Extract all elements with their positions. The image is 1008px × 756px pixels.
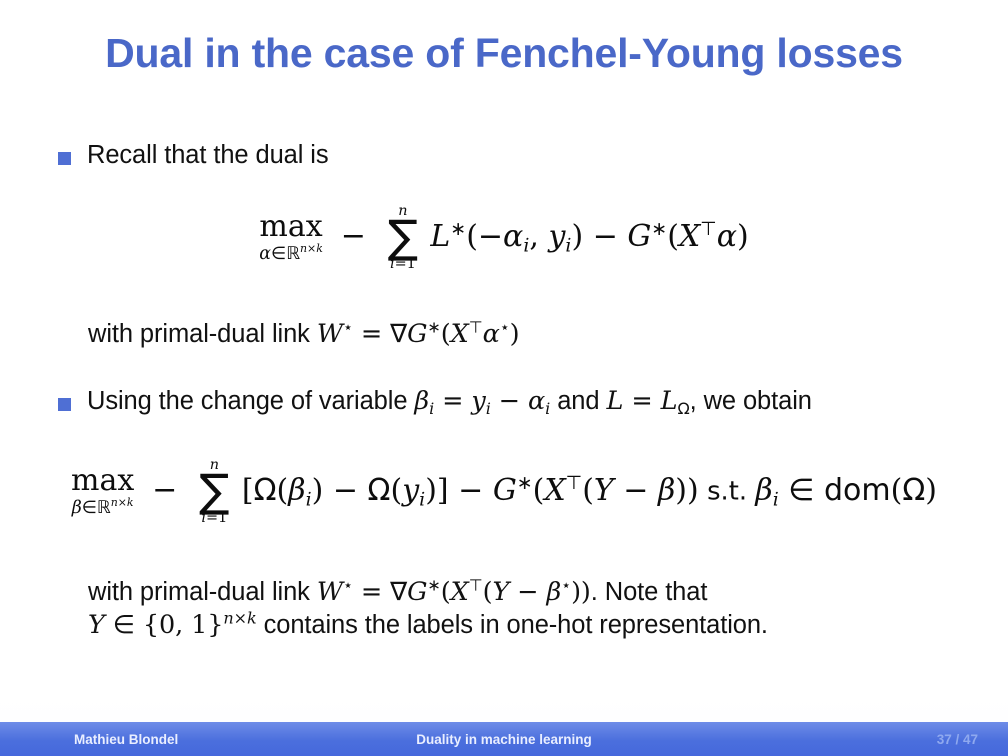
equation-2-max-operator: max β∈ℝn×k (71, 466, 134, 517)
bullet-2-prefix: Using the change of variable (87, 387, 407, 415)
bullet-2-middle: and (557, 387, 599, 415)
link-1-prefix: with primal-dual link (88, 320, 310, 348)
equation-1-max-limit: α∈ℝn×k (259, 245, 323, 263)
sigma-icon: ∑ (388, 216, 418, 259)
primal-dual-link-2: with primal-dual link W⋆ = ∇G∗(X⊤(Y − β⋆… (88, 576, 978, 642)
equation-1-max-label: max (259, 212, 323, 242)
link-2-prefix: with primal-dual link (88, 578, 310, 606)
link-2-line-1: with primal-dual link W⋆ = ∇G∗(X⊤(Y − β⋆… (88, 576, 978, 609)
bullet-2-suffix: , we obtain (690, 387, 812, 415)
footer-bar: Mathieu Blondel Duality in machine learn… (0, 722, 1008, 756)
link-2-line-2: Y ∈ {0, 1}n×k contains the labels in one… (88, 609, 978, 642)
bullet-marker-icon (58, 152, 71, 165)
primal-dual-link-1: with primal-dual link W⋆ = ∇G∗(X⊤α⋆) (88, 318, 978, 351)
bullet-2-expr-2: L = LΩ (606, 387, 689, 415)
link-2-note: . Note that (591, 578, 708, 606)
equation-1-max-operator: max α∈ℝn×k (259, 212, 323, 263)
equation-2-minus: − (143, 473, 187, 508)
footer-page-number: 37 / 47 (937, 732, 978, 747)
equation-2-sum-lower: i=1 (199, 511, 229, 525)
equation-2-constraint: βi ∈ dom(Ω) (755, 474, 937, 507)
link-2-line2-text: contains the labels in one-hot represent… (264, 611, 768, 639)
slide-body: Recall that the dual is max α∈ℝn×k − n ∑… (0, 118, 1008, 716)
link-1-expression: W⋆ = ∇G∗(X⊤α⋆) (317, 320, 520, 348)
bullet-item-1: Recall that the dual is (58, 140, 978, 172)
bullet-1-label: Recall that the dual is (87, 140, 329, 172)
link-2-line2-expression: Y ∈ {0, 1}n×k (88, 611, 257, 639)
bullet-2-expr-1: βi = yi − αi (414, 387, 550, 415)
equation-1-minus: − (331, 219, 375, 254)
equation-2-constraint-keyword: s.t. (707, 477, 747, 507)
equation-1-sum-lower: i=1 (388, 257, 418, 271)
footer-talk-title: Duality in machine learning (0, 732, 1008, 747)
equation-1-body: L∗(−αi, yi) − G∗(X⊤α) (430, 220, 748, 253)
page-title: Dual in the case of Fenchel-Young losses (0, 30, 1008, 77)
equation-2-max-label: max (71, 466, 134, 496)
equation-2-max-limit: β∈ℝn×k (71, 499, 134, 517)
equation-2-summation: n ∑ i=1 (199, 458, 229, 526)
equation-2-body: [Ω(βi) − Ω(yi)] − G∗(X⊤(Y − β)) (242, 474, 699, 507)
bullet-marker-icon (58, 398, 71, 411)
slide: Dual in the case of Fenchel-Young losses… (0, 0, 1008, 756)
bullet-2-label: Using the change of variable βi = yi − α… (87, 386, 812, 418)
equation-2: max β∈ℝn×k − n ∑ i=1 [Ω(βi) − Ω(yi)] − G… (0, 458, 1008, 526)
link-2-expression: W⋆ = ∇G∗(X⊤(Y − β⋆)) (317, 578, 591, 606)
sigma-icon: ∑ (199, 470, 229, 513)
equation-1-summation: n ∑ i=1 (388, 204, 418, 272)
equation-1: max α∈ℝn×k − n ∑ i=1 L∗(−αi, yi) − G∗(X⊤… (0, 204, 1008, 272)
bullet-item-2: Using the change of variable βi = yi − α… (58, 386, 978, 418)
